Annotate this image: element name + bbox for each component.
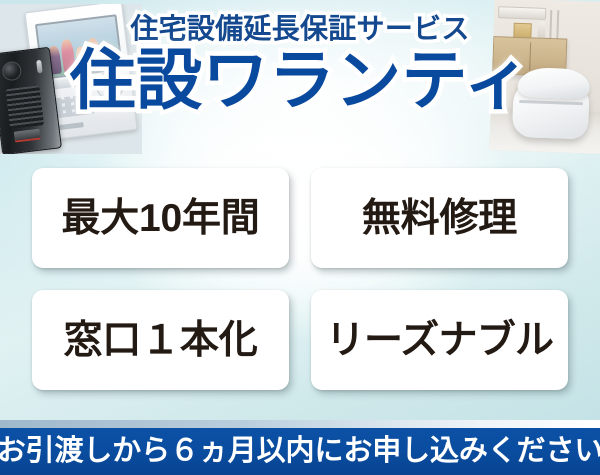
feature-card-grid: 最大10年間 無料修理 窓口１本化 リーズナブル [32,168,568,390]
page-title: 住設ワランティ [0,46,600,115]
feature-card-label: 最大10年間 [61,199,259,238]
feature-card-label: 無料修理 [362,199,517,238]
cta-banner[interactable]: お引渡しから６ヵ月以内にお申し込みください [0,428,600,475]
cta-text: お引渡しから６ヵ月以内にお申し込みください [0,437,600,466]
headline-block: 住宅設備延長保証サービス 住設ワランティ [0,14,600,115]
warranty-promo-banner: 住宅設備延長保証サービス 住設ワランティ 最大10年間 無料修理 窓口１本化 リ… [0,0,600,475]
feature-card-label: 窓口１本化 [63,321,257,360]
feature-card-affordable[interactable]: リーズナブル [311,290,568,390]
cta-divider [0,420,600,428]
doorbell-button [14,129,41,143]
service-subtitle: 住宅設備延長保証サービス [0,14,600,44]
feature-card-duration[interactable]: 最大10年間 [32,168,289,268]
feature-card-single-contact[interactable]: 窓口１本化 [32,290,289,390]
feature-card-label: リーズナブル [326,321,553,360]
feature-card-free-repair[interactable]: 無料修理 [311,168,568,268]
